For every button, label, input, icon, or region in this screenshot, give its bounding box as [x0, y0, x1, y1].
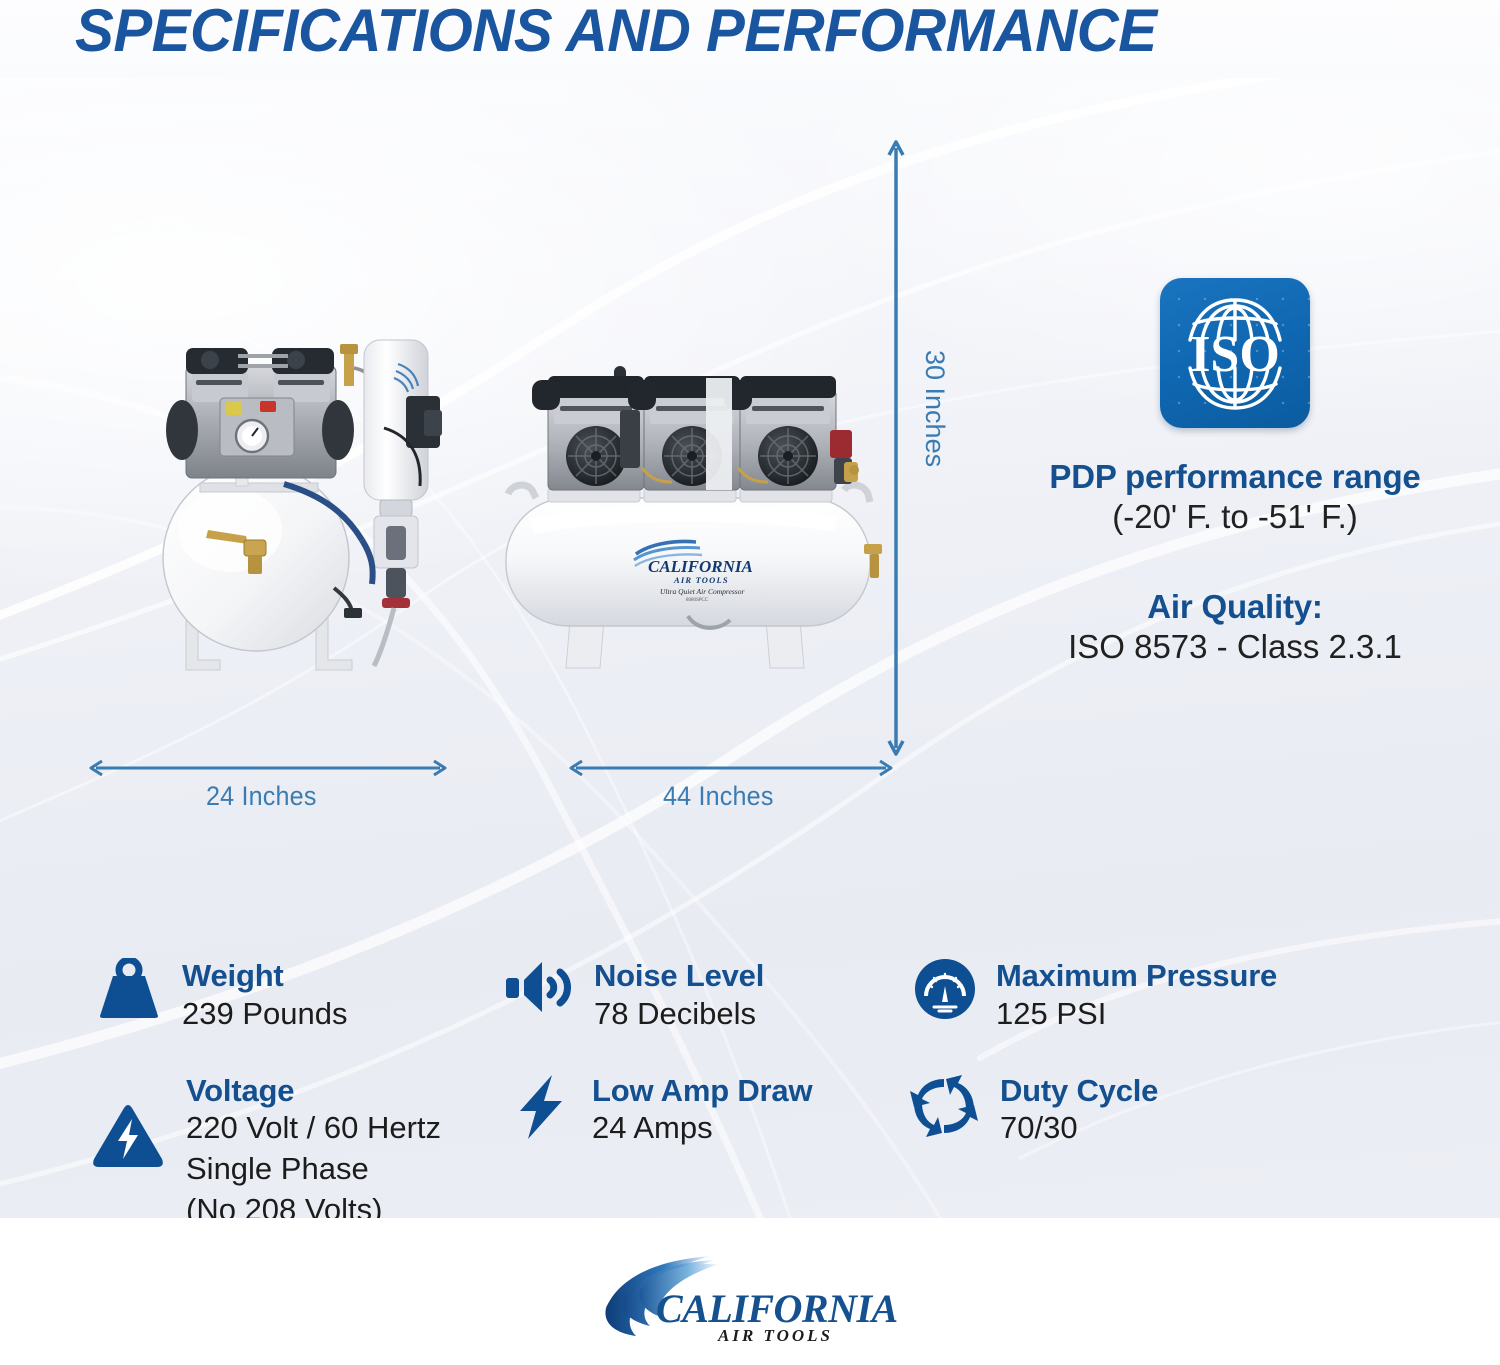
- spec-row-1: Weight 239 Pounds Noise L: [0, 958, 1500, 1035]
- pdp-heading: PDP performance range: [1000, 458, 1470, 496]
- spec-text-low-amp-draw: Low Amp Draw 24 Amps: [592, 1073, 812, 1150]
- spec-label-maximum-pressure: Maximum Pressure: [996, 958, 1277, 994]
- air-quality-block: Air Quality: ISO 8573 - Class 2.3.1: [1000, 588, 1470, 666]
- spec-label-weight: Weight: [182, 958, 347, 994]
- speaker-volume-icon: [504, 958, 574, 1016]
- spec-label-noise-level: Noise Level: [594, 958, 764, 994]
- spec-item-noise-level: Noise Level 78 Decibels: [450, 958, 900, 1035]
- product-image-side-view: CALIFORNIA AIR TOOLS Ultra Quiet Air Com…: [492, 358, 892, 678]
- iso-badge-label: ISO: [1190, 326, 1280, 383]
- spec-value-noise-level: 78 Decibels: [594, 994, 764, 1035]
- lightning-bolt-icon: [510, 1073, 572, 1141]
- air-quality-heading: Air Quality:: [1000, 588, 1470, 626]
- specifications-grid: Weight 239 Pounds Noise L: [0, 958, 1500, 1218]
- pdp-value: (-20' F. to -51' F.): [1000, 498, 1470, 536]
- spec-text-voltage: Voltage 220 Volt / 60 Hertz Single Phase…: [186, 1073, 441, 1218]
- spec-value-voltage-line1: 220 Volt / 60 Hertz: [186, 1108, 441, 1149]
- spec-text-maximum-pressure: Maximum Pressure 125 PSI: [996, 958, 1277, 1035]
- iso-certification-block: ISO PDP performance range (-20' F. to -5…: [1000, 278, 1470, 666]
- spec-item-low-amp-draw: Low Amp Draw 24 Amps: [450, 1073, 900, 1218]
- spec-label-low-amp-draw: Low Amp Draw: [592, 1073, 812, 1109]
- spec-item-voltage: Voltage 220 Volt / 60 Hertz Single Phase…: [0, 1073, 450, 1218]
- svg-text:Ultra Quiet Air Compressor: Ultra Quiet Air Compressor: [660, 587, 744, 596]
- spec-label-voltage: Voltage: [186, 1073, 441, 1109]
- spec-item-weight: Weight 239 Pounds: [0, 958, 450, 1035]
- product-image-front-view: [148, 268, 448, 688]
- spec-text-noise-level: Noise Level 78 Decibels: [594, 958, 764, 1035]
- dimension-arrow-width-side: [568, 756, 894, 780]
- dimension-label-height: 30 Inches: [919, 350, 950, 467]
- svg-text:8080SPCC: 8080SPCC: [686, 598, 709, 603]
- pressure-gauge-icon: [914, 958, 976, 1020]
- svg-text:AIR TOOLS: AIR TOOLS: [673, 575, 729, 585]
- spec-value-maximum-pressure: 125 PSI: [996, 994, 1277, 1035]
- logo-brand-sub-text: AIR TOOLS: [717, 1326, 833, 1345]
- logo-brand-text: CALIFORNIA: [656, 1286, 898, 1331]
- svg-text:CALIFORNIA: CALIFORNIA: [648, 557, 753, 576]
- cycle-arrows-icon: [908, 1073, 980, 1139]
- spec-value-voltage-line2: Single Phase: [186, 1149, 441, 1190]
- spec-value-weight: 239 Pounds: [182, 994, 347, 1035]
- dimension-arrow-width-front: [88, 756, 448, 780]
- iso-badge-icon: ISO: [1160, 278, 1310, 428]
- main-panel: CALIFORNIA AIR TOOLS Ultra Quiet Air Com…: [0, 78, 1500, 1218]
- spec-item-maximum-pressure: Maximum Pressure 125 PSI: [900, 958, 1400, 1035]
- spec-value-low-amp-draw: 24 Amps: [592, 1108, 812, 1149]
- pdp-range-block: PDP performance range (-20' F. to -51' F…: [1000, 458, 1470, 536]
- dimension-label-width-side: 44 Inches: [663, 781, 774, 812]
- footer: CALIFORNIA AIR TOOLS: [0, 1218, 1500, 1365]
- footer-logo: CALIFORNIA AIR TOOLS: [600, 1246, 900, 1351]
- spec-text-weight: Weight 239 Pounds: [182, 958, 347, 1035]
- air-quality-value: ISO 8573 - Class 2.3.1: [1000, 628, 1470, 666]
- spec-label-duty-cycle: Duty Cycle: [1000, 1073, 1158, 1109]
- page-title: SPECIFICATIONS AND PERFORMANCE: [75, 0, 1157, 65]
- dimension-label-width-front: 24 Inches: [206, 781, 317, 812]
- title-band: SPECIFICATIONS AND PERFORMANCE: [0, 0, 1500, 78]
- spec-row-2: Voltage 220 Volt / 60 Hertz Single Phase…: [0, 1073, 1500, 1218]
- spec-item-duty-cycle: Duty Cycle 70/30: [900, 1073, 1400, 1218]
- spec-value-voltage-line3: (No 208 Volts): [186, 1190, 441, 1218]
- weight-icon: [96, 958, 162, 1020]
- spec-text-duty-cycle: Duty Cycle 70/30: [1000, 1073, 1158, 1150]
- voltage-warning-icon: [90, 1101, 166, 1171]
- spec-value-duty-cycle: 70/30: [1000, 1108, 1158, 1149]
